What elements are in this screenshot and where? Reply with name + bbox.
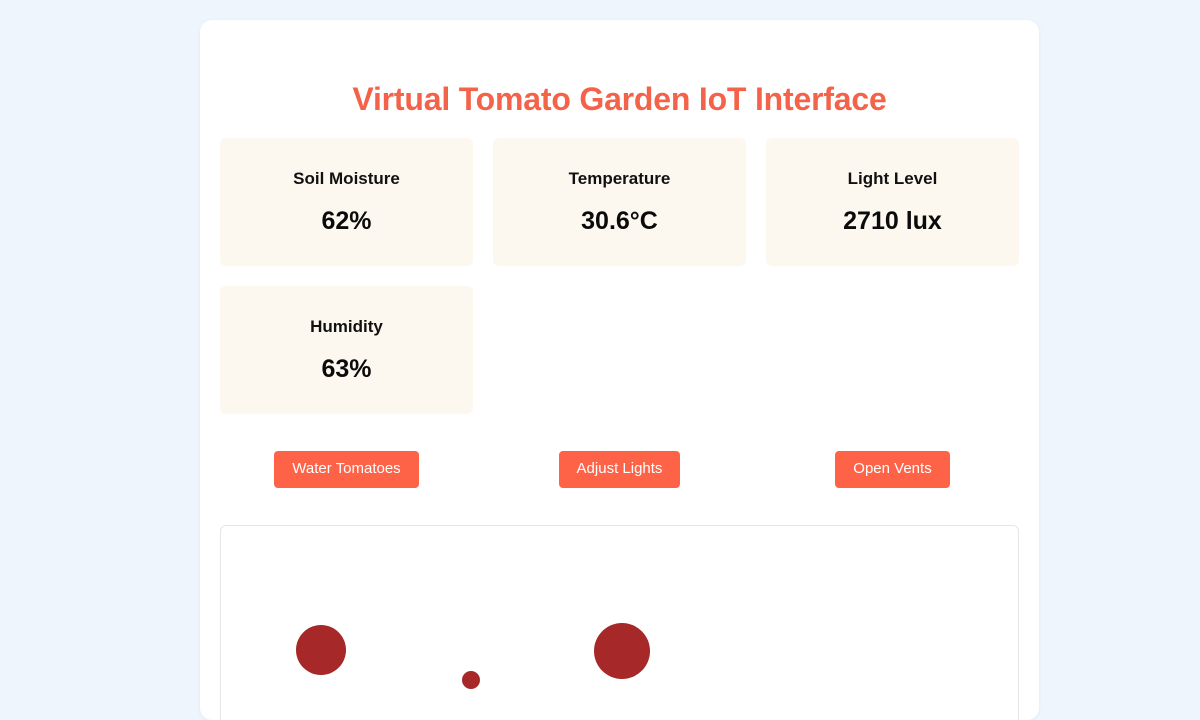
action-cell-water: Water Tomatoes <box>220 451 473 488</box>
sensor-card-light-level: Light Level 2710 lux <box>766 138 1019 266</box>
sensor-value: 30.6°C <box>581 206 658 236</box>
tomato-fruit <box>462 671 480 689</box>
tomato-fruit <box>594 623 650 679</box>
sensor-label: Humidity <box>310 317 383 337</box>
action-cell-lights: Adjust Lights <box>493 451 746 488</box>
sensor-card-temperature: Temperature 30.6°C <box>493 138 746 266</box>
sensor-card-grid: Soil Moisture 62% Temperature 30.6°C Lig… <box>220 138 1019 414</box>
page-title: Virtual Tomato Garden IoT Interface <box>220 80 1019 118</box>
sensor-value: 63% <box>321 354 371 384</box>
sensor-card-humidity: Humidity 63% <box>220 286 473 414</box>
sensor-label: Soil Moisture <box>293 169 400 189</box>
garden-visualization-panel <box>220 525 1019 720</box>
sensor-card-soil-moisture: Soil Moisture 62% <box>220 138 473 266</box>
tomato-fruit <box>296 625 346 675</box>
sensor-label: Temperature <box>569 169 671 189</box>
sensor-value: 2710 lux <box>843 206 942 236</box>
action-button-row: Water Tomatoes Adjust Lights Open Vents <box>220 451 1019 488</box>
sensor-value: 62% <box>321 206 371 236</box>
water-tomatoes-button[interactable]: Water Tomatoes <box>274 451 418 488</box>
adjust-lights-button[interactable]: Adjust Lights <box>559 451 681 488</box>
app-container: Virtual Tomato Garden IoT Interface Soil… <box>200 20 1039 720</box>
sensor-label: Light Level <box>848 169 938 189</box>
open-vents-button[interactable]: Open Vents <box>835 451 949 488</box>
action-cell-vents: Open Vents <box>766 451 1019 488</box>
